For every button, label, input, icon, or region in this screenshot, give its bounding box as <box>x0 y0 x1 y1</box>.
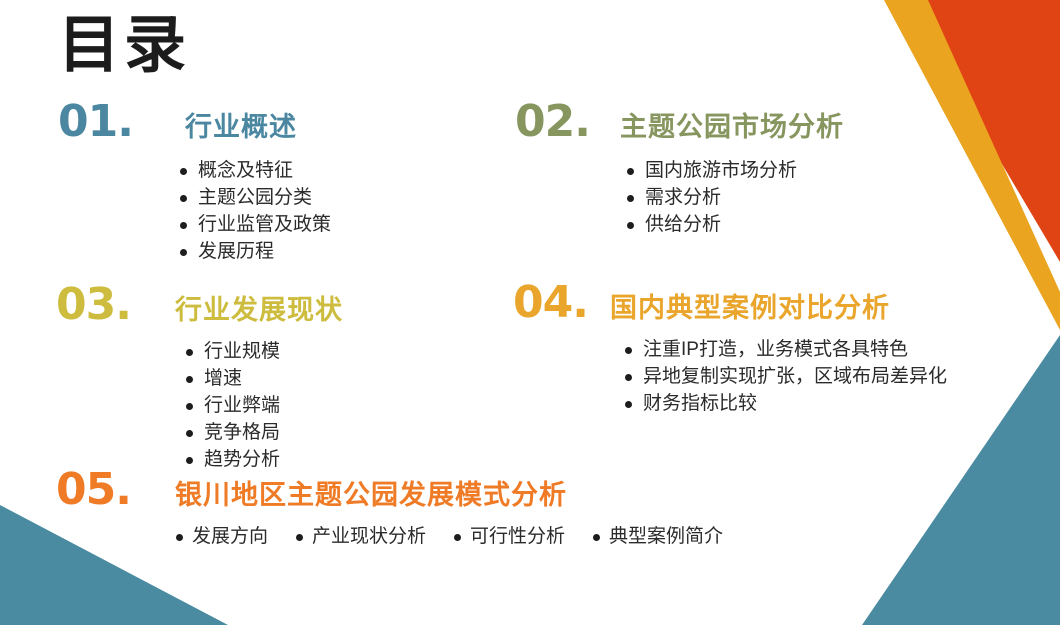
section-05: 05. 银川地区主题公园发展模式分析 发展方向 产业现状分析 可行性分析 典型案… <box>56 468 723 551</box>
section-03: 03. 行业发展现状 行业规模 增速 行业弊端 竞争格局 趋势分析 <box>56 283 343 474</box>
list-item[interactable]: 可行性分析 <box>452 524 565 551</box>
list-item[interactable]: 产业现状分析 <box>294 524 426 551</box>
section-02-title: 主题公园市场分析 <box>620 114 844 141</box>
list-item[interactable]: 异地复制实现扩张，区域布局差异化 <box>623 364 947 391</box>
section-03-bullet-list: 行业规模 增速 行业弊端 竞争格局 趋势分析 <box>184 339 343 474</box>
list-item[interactable]: 发展历程 <box>178 239 331 266</box>
section-02: 02. 主题公园市场分析 国内旅游市场分析 需求分析 供给分析 <box>515 100 844 239</box>
list-item[interactable]: 需求分析 <box>625 185 844 212</box>
section-04-title: 国内典型案例对比分析 <box>610 295 890 322</box>
section-03-number: 03. <box>56 283 131 327</box>
list-item[interactable]: 财务指标比较 <box>623 391 947 418</box>
section-04: 04. 国内典型案例对比分析 注重IP打造，业务模式各具特色 异地复制实现扩张，… <box>513 281 947 418</box>
section-02-bullet-list: 国内旅游市场分析 需求分析 供给分析 <box>625 158 844 239</box>
list-item[interactable]: 国内旅游市场分析 <box>625 158 844 185</box>
section-04-number: 04. <box>513 281 588 325</box>
list-item[interactable]: 竞争格局 <box>184 420 343 447</box>
section-04-bullet-list: 注重IP打造，业务模式各具特色 异地复制实现扩张，区域布局差异化 财务指标比较 <box>623 337 947 418</box>
list-item[interactable]: 主题公园分类 <box>178 185 331 212</box>
list-item[interactable]: 行业弊端 <box>184 393 343 420</box>
section-01: 01. 行业概述 概念及特征 主题公园分类 行业监管及政策 发展历程 <box>58 100 331 266</box>
list-item[interactable]: 注重IP打造，业务模式各具特色 <box>623 337 947 364</box>
section-03-header[interactable]: 03. 行业发展现状 <box>56 283 343 327</box>
section-01-header[interactable]: 01. 行业概述 <box>58 100 331 144</box>
section-01-bullet-list: 概念及特征 主题公园分类 行业监管及政策 发展历程 <box>178 158 331 266</box>
list-item[interactable]: 行业规模 <box>184 339 343 366</box>
section-04-header[interactable]: 04. 国内典型案例对比分析 <box>513 281 947 325</box>
section-01-number: 01. <box>58 100 133 144</box>
list-item[interactable]: 行业监管及政策 <box>178 212 331 239</box>
list-item[interactable]: 增速 <box>184 366 343 393</box>
slide-canvas: 目录 01. 行业概述 概念及特征 主题公园分类 行业监管及政策 发展历程 02… <box>0 0 1060 625</box>
section-03-title: 行业发展现状 <box>175 297 343 324</box>
list-item[interactable]: 供给分析 <box>625 212 844 239</box>
section-01-title: 行业概述 <box>185 114 297 141</box>
section-05-bullet-list: 发展方向 产业现状分析 可行性分析 典型案例简介 <box>174 524 723 551</box>
section-05-number: 05. <box>56 468 131 512</box>
list-item[interactable]: 发展方向 <box>174 524 268 551</box>
list-item[interactable]: 概念及特征 <box>178 158 331 185</box>
section-05-title: 银川地区主题公园发展模式分析 <box>175 482 567 509</box>
section-02-header[interactable]: 02. 主题公园市场分析 <box>515 100 844 144</box>
list-item[interactable]: 典型案例简介 <box>591 524 723 551</box>
section-02-number: 02. <box>515 100 590 144</box>
page-title: 目录 <box>58 12 190 77</box>
section-05-header[interactable]: 05. 银川地区主题公园发展模式分析 <box>56 468 723 512</box>
